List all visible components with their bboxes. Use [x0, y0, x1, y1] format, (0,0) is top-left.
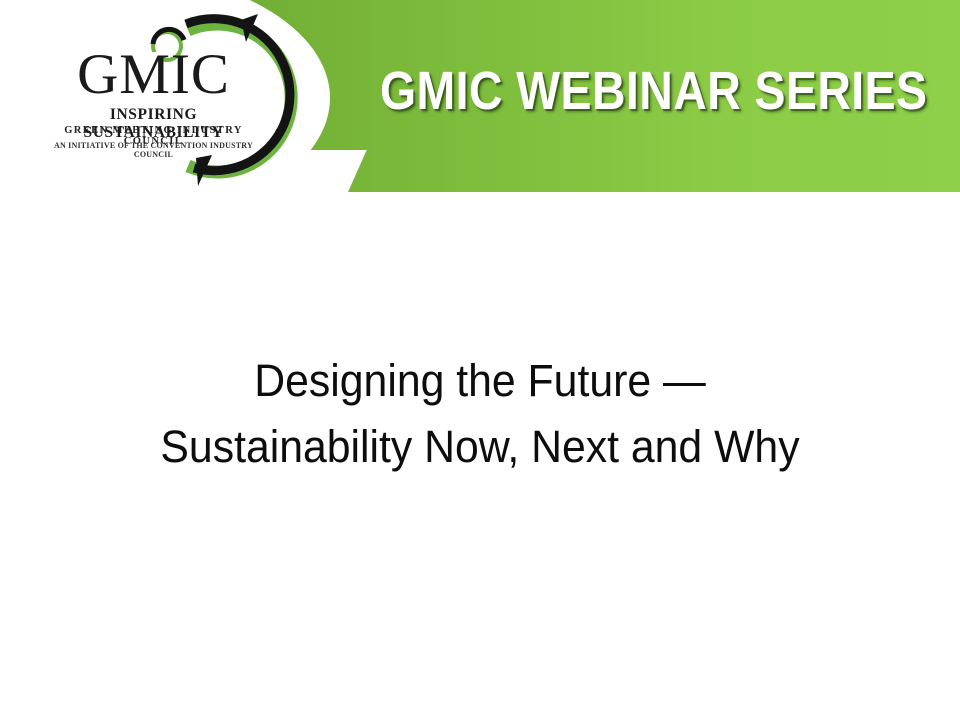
presentation-slide: GMIC WEBINAR SERIES GMIC INSPIRING SUSTA…: [0, 0, 960, 720]
gmic-tagline-convention-industry-council: AN INITIATIVE OF THE CONVENTION INDUSTRY…: [44, 141, 263, 159]
header-bottom-edge: [0, 192, 960, 195]
gmic-wordmark: GMIC: [46, 46, 261, 103]
webinar-series-banner-title: GMIC WEBINAR SERIES: [380, 60, 927, 122]
slide-title-line-2: Sustainability Now, Next and Why: [81, 414, 879, 480]
slide-title: Designing the Future — Sustainability No…: [81, 348, 879, 480]
gmic-logo: GMIC INSPIRING SUSTAINABILITY GREEN MEET…: [36, 8, 306, 188]
slide-title-line-1: Designing the Future —: [81, 348, 879, 414]
